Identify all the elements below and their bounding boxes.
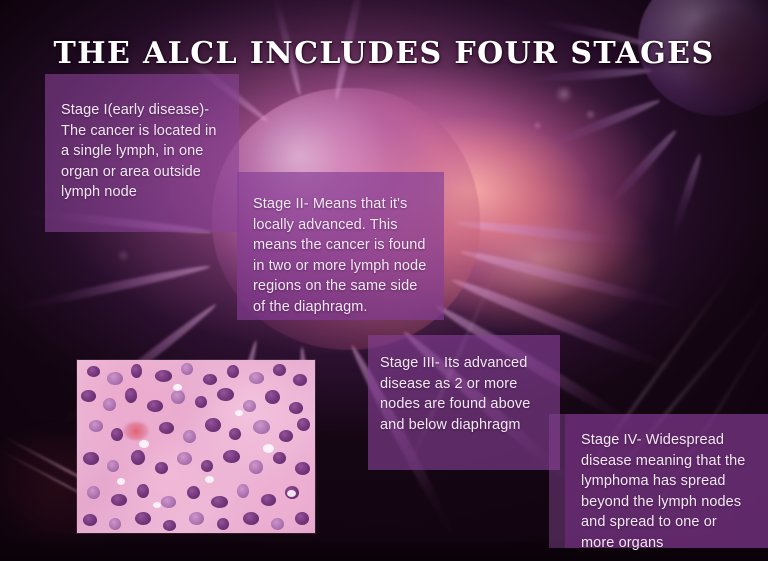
stage-four-text: Stage IV- Widespread disease meaning tha… bbox=[581, 430, 754, 553]
stage-four-panel: Stage IV- Widespread disease meaning tha… bbox=[565, 414, 768, 548]
histology-micrograph bbox=[77, 360, 315, 533]
stage-two-text: Stage II- Means that it's locally advanc… bbox=[253, 194, 432, 317]
histology-eosinophilic-focus bbox=[123, 422, 149, 440]
stage-three-text: Stage III- Its advanced disease as 2 or … bbox=[380, 353, 550, 435]
page-title: THE ALCL INCLUDES FOUR STAGES bbox=[0, 36, 768, 71]
stage-three-panel: Stage III- Its advanced disease as 2 or … bbox=[368, 335, 560, 470]
stage-one-text: Stage I(early disease)- The cancer is lo… bbox=[61, 100, 225, 203]
histology-background bbox=[77, 360, 315, 533]
infographic-poster: THE ALCL INCLUDES FOUR STAGES bbox=[0, 0, 768, 561]
stage-one-panel: Stage I(early disease)- The cancer is lo… bbox=[45, 74, 239, 232]
stage-two-panel: Stage II- Means that it's locally advanc… bbox=[237, 172, 444, 320]
